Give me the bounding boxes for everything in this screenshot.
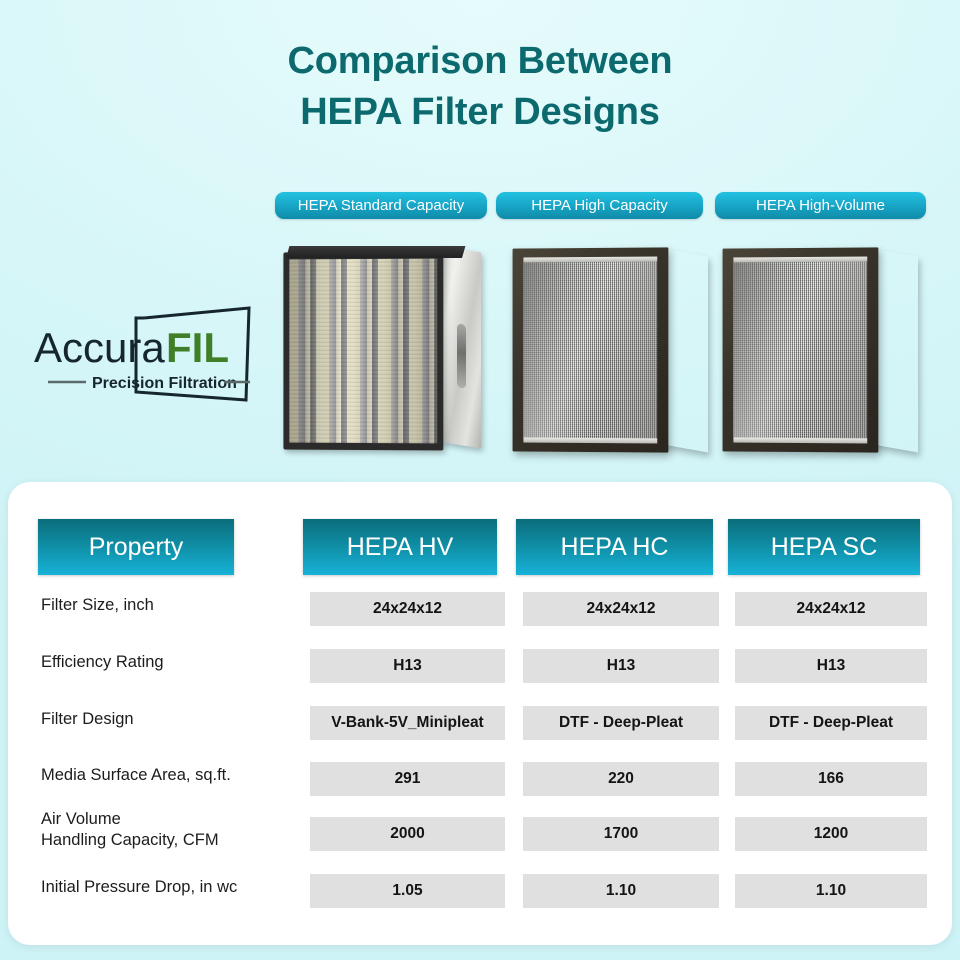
table-cell: 24x24x12 xyxy=(523,592,719,626)
table-cell: H13 xyxy=(310,649,505,683)
product-label-standard-capacity: HEPA Standard Capacity xyxy=(275,192,487,219)
table-cell: 1.10 xyxy=(523,874,719,908)
table-header-property: Property xyxy=(38,519,234,575)
table-cell: 220 xyxy=(523,762,719,796)
table-header-hepa-hc: HEPA HC xyxy=(516,519,713,575)
table-cell: 24x24x12 xyxy=(310,592,505,626)
v-bank-frame xyxy=(283,252,443,451)
table-cell: 291 xyxy=(310,762,505,796)
deep-pleat-top-bar xyxy=(733,257,867,263)
table-cell: H13 xyxy=(523,649,719,683)
deep-pleat-top-bar xyxy=(523,257,657,263)
v-bank-handle-icon xyxy=(457,323,466,388)
table-cell: 2000 xyxy=(310,817,505,851)
table-cell: 24x24x12 xyxy=(735,592,927,626)
deep-pleat-frame xyxy=(513,247,669,452)
comparison-table-card: PropertyHEPA HVHEPA HCHEPA SCFilter Size… xyxy=(8,482,952,945)
table-cell: 1200 xyxy=(735,817,927,851)
table-cell: DTF - Deep-Pleat xyxy=(735,706,927,740)
table-header-hepa-sc: HEPA SC xyxy=(728,519,920,575)
row-label: Filter Design xyxy=(41,709,303,730)
table-cell: 166 xyxy=(735,762,927,796)
comparison-table: PropertyHEPA HVHEPA HCHEPA SCFilter Size… xyxy=(8,482,952,945)
deep-pleat-filter-image-2 xyxy=(722,244,918,456)
table-cell: 1700 xyxy=(523,817,719,851)
table-cell: 1.05 xyxy=(310,874,505,908)
row-label: Initial Pressure Drop, in wc xyxy=(41,877,303,898)
deep-pleat-bottom-bar xyxy=(733,438,867,444)
row-label: Filter Size, inch xyxy=(41,595,303,616)
v-bank-filter-image xyxy=(283,246,481,454)
product-label-high-volume: HEPA High-Volume xyxy=(715,192,926,219)
table-cell: H13 xyxy=(735,649,927,683)
v-bank-media-panels xyxy=(289,259,437,444)
row-label: Media Surface Area, sq.ft. xyxy=(41,765,303,786)
brand-logo: Accura FIL Precision Filtration xyxy=(24,300,259,408)
page-title: Comparison Between HEPA Filter Designs xyxy=(0,36,960,138)
infographic-canvas: Comparison Between HEPA Filter Designs H… xyxy=(0,0,960,960)
title-line-1: Comparison Between xyxy=(0,36,960,87)
logo-tagline: Precision Filtration xyxy=(92,375,237,392)
logo-brand-secondary: FIL xyxy=(166,324,229,371)
logo-brand-primary: Accura xyxy=(34,324,165,371)
table-cell: V-Bank-5V_Minipleat xyxy=(310,706,505,740)
title-line-2: HEPA Filter Designs xyxy=(0,87,960,138)
v-bank-top-edge xyxy=(286,246,465,258)
table-cell: DTF - Deep-Pleat xyxy=(523,706,719,740)
deep-pleat-media-face xyxy=(523,260,657,441)
deep-pleat-frame xyxy=(723,247,879,452)
deep-pleat-media-face xyxy=(733,260,867,441)
deep-pleat-filter-image-1 xyxy=(512,244,708,456)
deep-pleat-bottom-bar xyxy=(523,438,657,444)
row-label: Efficiency Rating xyxy=(41,652,303,673)
row-label: Air Volume Handling Capacity, CFM xyxy=(41,809,303,851)
table-cell: 1.10 xyxy=(735,874,927,908)
product-label-high-capacity: HEPA High Capacity xyxy=(496,192,703,219)
table-header-hepa-hv: HEPA HV xyxy=(303,519,497,575)
